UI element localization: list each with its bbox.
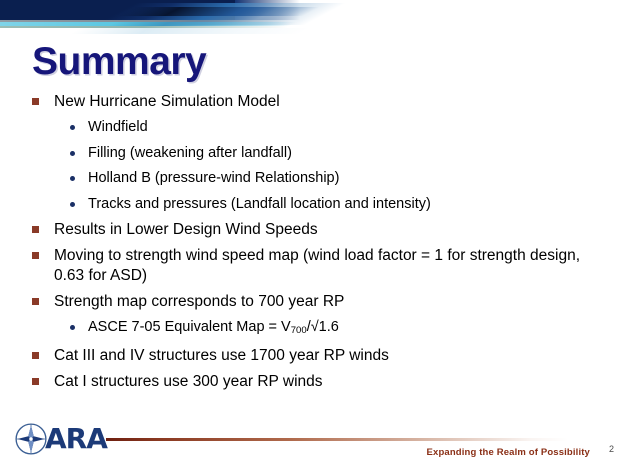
- round-bullet-icon: [70, 176, 75, 181]
- list-item: ASCE 7-05 Equivalent Map = V700/√1.6: [70, 318, 592, 340]
- list-item-label: Strength map corresponds to 700 year RP: [54, 292, 592, 312]
- slide-footer: ARA Expanding the Realm of Possibility 2: [0, 416, 624, 468]
- square-bullet-icon: [32, 226, 39, 233]
- list-item: New Hurricane Simulation Model: [32, 92, 592, 112]
- footer-tagline: Expanding the Realm of Possibility: [427, 447, 590, 458]
- round-bullet-icon: [70, 325, 75, 330]
- list-item-label: Filling (weakening after landfall): [88, 144, 592, 163]
- list-item-label: Windfield: [88, 118, 592, 137]
- page-number: 2: [609, 444, 614, 454]
- list-item: Filling (weakening after landfall): [70, 144, 592, 163]
- list-item: Moving to strength wind speed map (wind …: [32, 246, 592, 285]
- list-item: Windfield: [70, 118, 592, 137]
- square-bullet-icon: [32, 298, 39, 305]
- square-bullet-icon: [32, 252, 39, 259]
- round-bullet-icon: [70, 151, 75, 156]
- list-item: Cat III and IV structures use 1700 year …: [32, 346, 592, 366]
- top-banner: [0, 0, 624, 34]
- list-item-label: Cat III and IV structures use 1700 year …: [54, 346, 592, 366]
- list-item-label: ASCE 7-05 Equivalent Map = V700/√1.6: [88, 318, 592, 340]
- footer-divider-rule: [106, 438, 568, 441]
- round-bullet-icon: [70, 202, 75, 207]
- slide-canvas: Summary New Hurricane Simulation ModelWi…: [0, 0, 624, 468]
- ara-logo: ARA: [14, 422, 107, 456]
- square-bullet-icon: [32, 378, 39, 385]
- list-item-label: Tracks and pressures (Landfall location …: [88, 195, 592, 214]
- list-item: Strength map corresponds to 700 year RP: [32, 292, 592, 312]
- list-item: Cat I structures use 300 year RP winds: [32, 372, 592, 392]
- list-item-label: Moving to strength wind speed map (wind …: [54, 246, 592, 285]
- bullet-list: New Hurricane Simulation ModelWindfieldF…: [32, 92, 592, 398]
- list-item-label: Holland B (pressure-wind Relationship): [88, 169, 592, 188]
- page-title: Summary: [32, 42, 206, 81]
- round-bullet-icon: [70, 125, 75, 130]
- list-item: Results in Lower Design Wind Speeds: [32, 220, 592, 240]
- list-item-label: Results in Lower Design Wind Speeds: [54, 220, 592, 240]
- square-bullet-icon: [32, 352, 39, 359]
- banner-swoosh-dark: [118, 7, 320, 16]
- compass-star-icon: [14, 422, 48, 456]
- square-bullet-icon: [32, 98, 39, 105]
- banner-pale-wedge: [45, 28, 310, 34]
- list-item-label: Cat I structures use 300 year RP winds: [54, 372, 592, 392]
- list-item: Tracks and pressures (Landfall location …: [70, 195, 592, 214]
- ara-wordmark: ARA: [45, 425, 107, 453]
- list-item-label: New Hurricane Simulation Model: [54, 92, 592, 112]
- list-item: Holland B (pressure-wind Relationship): [70, 169, 592, 188]
